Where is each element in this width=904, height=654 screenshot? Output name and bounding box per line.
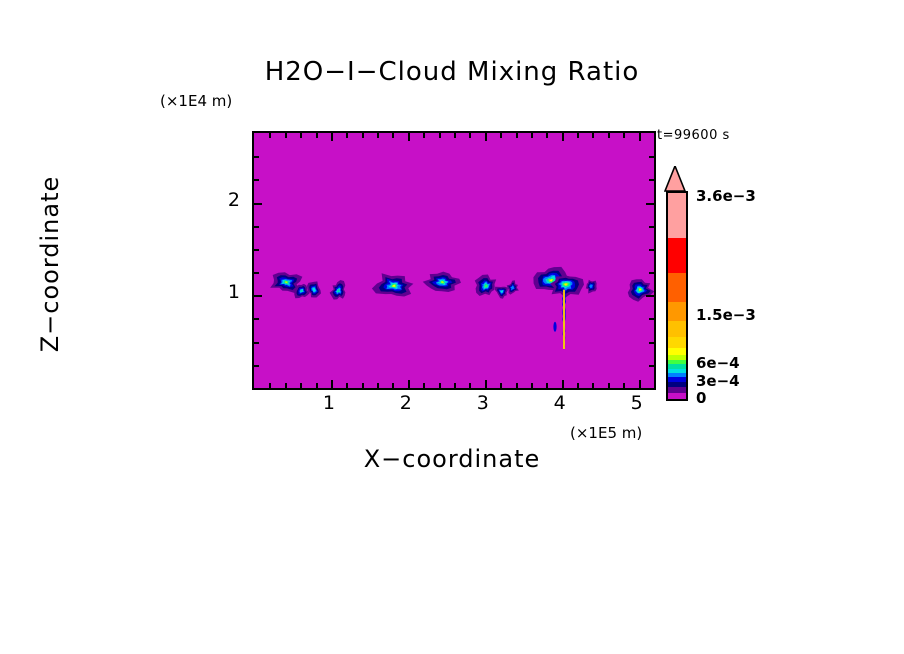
x-tick bbox=[516, 383, 518, 388]
x-tick bbox=[285, 133, 287, 138]
x-axis-label: X−coordinate bbox=[0, 445, 904, 473]
x-tick bbox=[316, 133, 318, 138]
y-tick bbox=[254, 179, 259, 181]
x-tick bbox=[377, 133, 379, 138]
y-tick-label: 2 bbox=[200, 189, 240, 211]
y-tick bbox=[649, 272, 654, 274]
colorbar-band bbox=[668, 392, 686, 399]
x-tick bbox=[592, 383, 594, 388]
colorbar-gradient bbox=[666, 191, 688, 401]
colorbar-arrow-icon bbox=[664, 166, 686, 192]
x-axis-unit: (×1E5 m) bbox=[570, 424, 642, 442]
x-tick bbox=[639, 133, 641, 141]
x-tick-label: 3 bbox=[463, 392, 503, 414]
x-tick bbox=[454, 383, 456, 388]
x-tick bbox=[562, 380, 564, 388]
y-tick bbox=[254, 203, 262, 205]
y-tick bbox=[254, 342, 259, 344]
colorbar: 3.6e−31.5e−36e−43e−40 bbox=[664, 166, 804, 401]
x-tick bbox=[269, 383, 271, 388]
colorbar-band bbox=[668, 272, 686, 302]
x-tick bbox=[392, 133, 394, 138]
x-tick bbox=[362, 133, 364, 138]
y-tick bbox=[254, 156, 259, 158]
x-tick bbox=[562, 133, 564, 141]
x-tick bbox=[408, 380, 410, 388]
y-tick bbox=[649, 179, 654, 181]
contour-streamer-core bbox=[563, 290, 565, 349]
x-tick bbox=[408, 133, 410, 141]
contour-canvas bbox=[254, 133, 654, 388]
x-tick bbox=[577, 133, 579, 138]
x-tick-label: 4 bbox=[540, 392, 580, 414]
colorbar-band bbox=[668, 301, 686, 321]
y-tick bbox=[649, 342, 654, 344]
colorbar-label: 1.5e−3 bbox=[696, 306, 756, 324]
y-tick bbox=[649, 249, 654, 251]
x-tick bbox=[439, 133, 441, 138]
x-tick-label: 1 bbox=[309, 392, 349, 414]
y-tick bbox=[646, 203, 654, 205]
x-tick bbox=[592, 133, 594, 138]
colorbar-band bbox=[668, 237, 686, 273]
contour-field bbox=[254, 133, 654, 388]
x-tick bbox=[285, 383, 287, 388]
x-tick bbox=[500, 383, 502, 388]
y-axis-unit: (×1E4 m) bbox=[160, 92, 232, 110]
y-axis-label: Z−coordinate bbox=[36, 134, 64, 394]
x-tick bbox=[300, 133, 302, 138]
x-tick bbox=[516, 133, 518, 138]
colorbar-band bbox=[668, 386, 686, 393]
colorbar-band bbox=[668, 336, 686, 347]
x-tick bbox=[608, 383, 610, 388]
x-tick bbox=[623, 133, 625, 138]
y-tick bbox=[649, 318, 654, 320]
y-tick bbox=[649, 226, 654, 228]
colorbar-band bbox=[668, 347, 686, 355]
colorbar-band bbox=[668, 320, 686, 337]
colorbar-band bbox=[668, 192, 686, 238]
x-tick bbox=[531, 133, 533, 138]
x-tick bbox=[485, 133, 487, 141]
y-tick bbox=[254, 272, 259, 274]
x-tick bbox=[316, 383, 318, 388]
x-tick bbox=[346, 383, 348, 388]
contour-fleck bbox=[553, 322, 556, 332]
x-tick bbox=[546, 383, 548, 388]
colorbar-label: 6e−4 bbox=[696, 354, 740, 372]
x-tick bbox=[331, 133, 333, 141]
colorbar-label: 3.6e−3 bbox=[696, 187, 756, 205]
x-tick bbox=[577, 383, 579, 388]
x-tick bbox=[639, 380, 641, 388]
y-tick bbox=[649, 365, 654, 367]
page-title: H2O−I−Cloud Mixing Ratio bbox=[0, 57, 904, 87]
x-tick bbox=[500, 133, 502, 138]
x-tick bbox=[454, 133, 456, 138]
x-tick bbox=[346, 133, 348, 138]
x-tick bbox=[423, 383, 425, 388]
y-tick bbox=[254, 365, 259, 367]
contour-plot bbox=[252, 131, 656, 390]
x-tick bbox=[377, 383, 379, 388]
x-tick bbox=[531, 383, 533, 388]
colorbar-label: 3e−4 bbox=[696, 372, 740, 390]
x-tick bbox=[608, 133, 610, 138]
y-tick bbox=[254, 249, 259, 251]
x-tick bbox=[331, 380, 333, 388]
x-tick bbox=[362, 383, 364, 388]
y-tick bbox=[649, 156, 654, 158]
x-tick bbox=[269, 133, 271, 138]
x-tick bbox=[485, 380, 487, 388]
x-tick-label: 2 bbox=[386, 392, 426, 414]
x-tick bbox=[392, 383, 394, 388]
x-tick-label: 5 bbox=[617, 392, 657, 414]
x-tick bbox=[469, 133, 471, 138]
x-tick bbox=[469, 383, 471, 388]
y-tick bbox=[254, 295, 262, 297]
x-tick bbox=[300, 383, 302, 388]
y-tick bbox=[646, 295, 654, 297]
x-tick bbox=[623, 383, 625, 388]
y-tick bbox=[254, 318, 259, 320]
y-tick bbox=[254, 226, 259, 228]
x-tick bbox=[423, 133, 425, 138]
colorbar-label: 0 bbox=[696, 389, 706, 407]
time-annotation: t=99600 s bbox=[657, 128, 730, 143]
x-tick bbox=[439, 383, 441, 388]
y-tick-label: 1 bbox=[200, 281, 240, 303]
x-tick bbox=[546, 133, 548, 138]
